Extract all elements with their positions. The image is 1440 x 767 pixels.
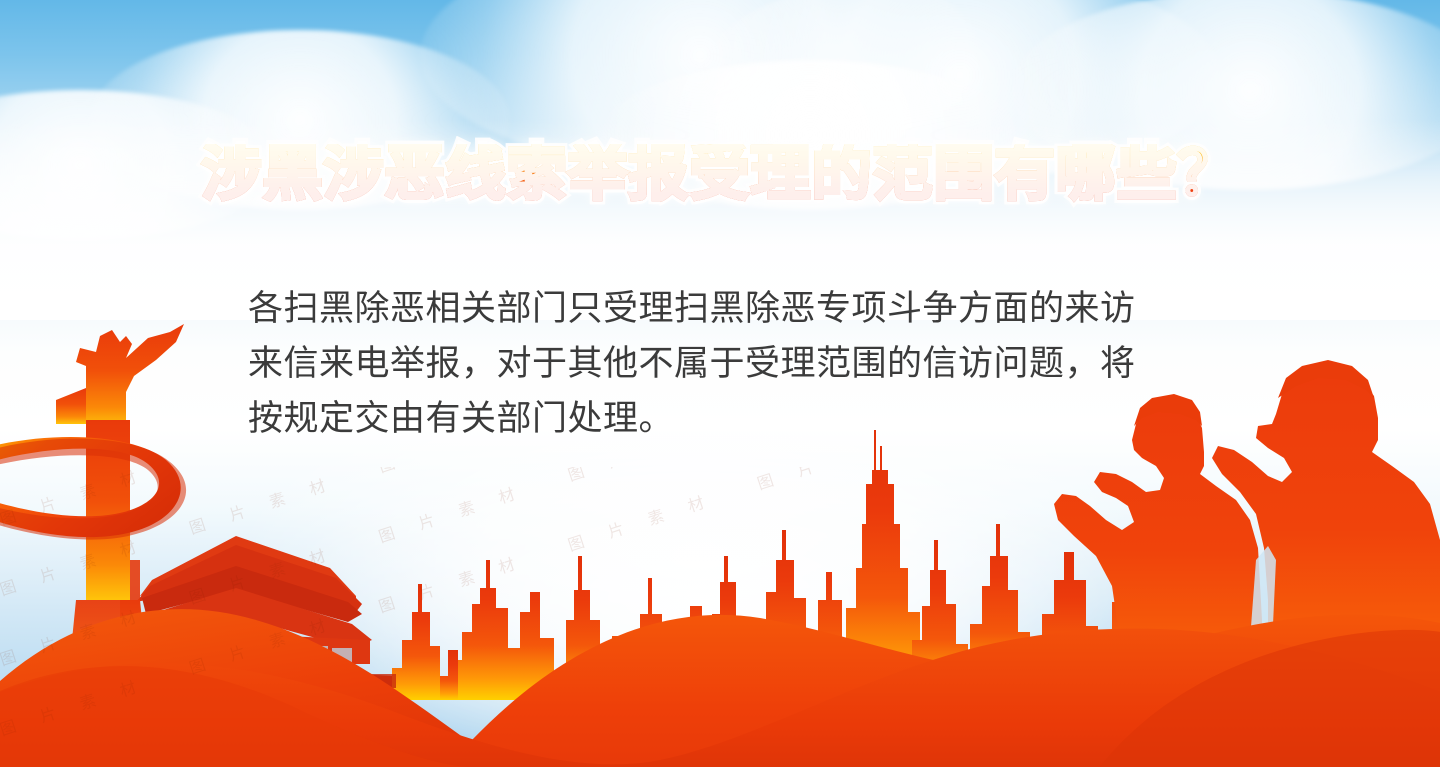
body-line: 各扫黑除恶相关部门只受理扫黑除恶专项斗争方面的来访 [248, 282, 1238, 337]
page-title: 涉黑涉恶线索举报受理的范围有哪些？ [0, 144, 1440, 204]
body-line: 来信来电举报，对于其他不属于受理范围的信访问题，将 [248, 337, 1238, 392]
body-line: 按规定交由有关部门处理。 [248, 392, 1238, 447]
body-paragraph: 各扫黑除恶相关部门只受理扫黑除恶专项斗争方面的来访 来信来电举报，对于其他不属于… [248, 282, 1238, 447]
poster-canvas: 图片素材 图片素材 图片素材 图片素材 图片素材 图片素材 图片素材 图片素材 … [0, 0, 1440, 767]
